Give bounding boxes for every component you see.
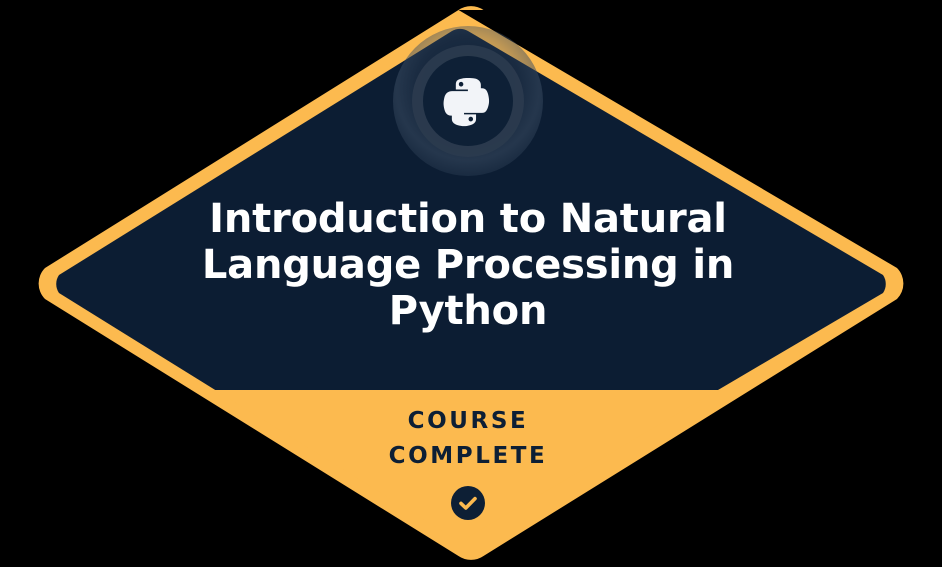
badge-diamond-shape <box>0 0 942 567</box>
diamond-upper-fill <box>0 0 942 390</box>
badge-card: Introduction to Natural Language Process… <box>0 0 942 567</box>
